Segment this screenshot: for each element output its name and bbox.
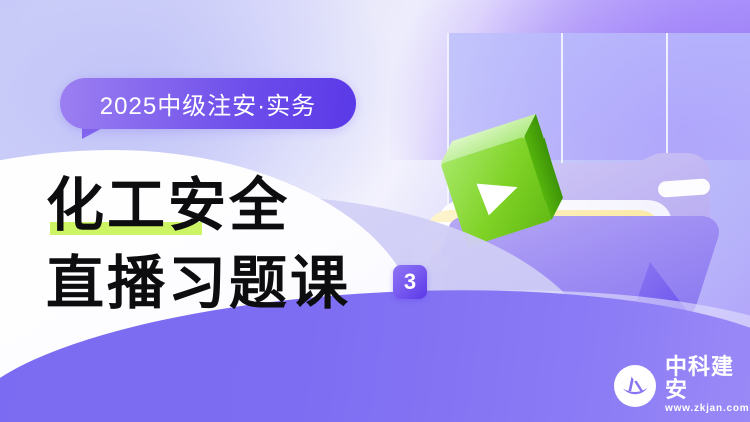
brand-logo-text: 中科建安 www.zkjan.com — [665, 356, 750, 416]
background-panel-1 — [447, 33, 562, 363]
illustration-folder-arrow — [400, 20, 750, 380]
brand-name: 中科建安 — [665, 356, 750, 402]
episode-number-badge: 3 — [393, 265, 427, 299]
kicker-badge-label: 2025中级注安·实务 — [100, 86, 316, 121]
brand-logo: 中科建安 www.zkjan.com — [614, 356, 750, 416]
zkjan-circle-mark-icon — [614, 365, 656, 407]
page-title-line-1: 化工安全 — [46, 176, 290, 234]
page-title-line-2: 直播习题课 — [46, 254, 351, 312]
background-panel-2 — [561, 33, 667, 363]
kicker-badge: 2025中级注安·实务 — [60, 78, 356, 129]
background-top-right-glow — [390, 0, 750, 160]
course-promo-banner: 2025中级注安·实务 化工安全 直播习题课 3 中科建安 www.zkjan.… — [0, 0, 750, 422]
background-vertical-panels — [430, 33, 750, 363]
brand-url: www.zkjan.com — [665, 402, 750, 416]
background-panel-3 — [666, 33, 750, 363]
episode-number: 3 — [404, 271, 416, 293]
